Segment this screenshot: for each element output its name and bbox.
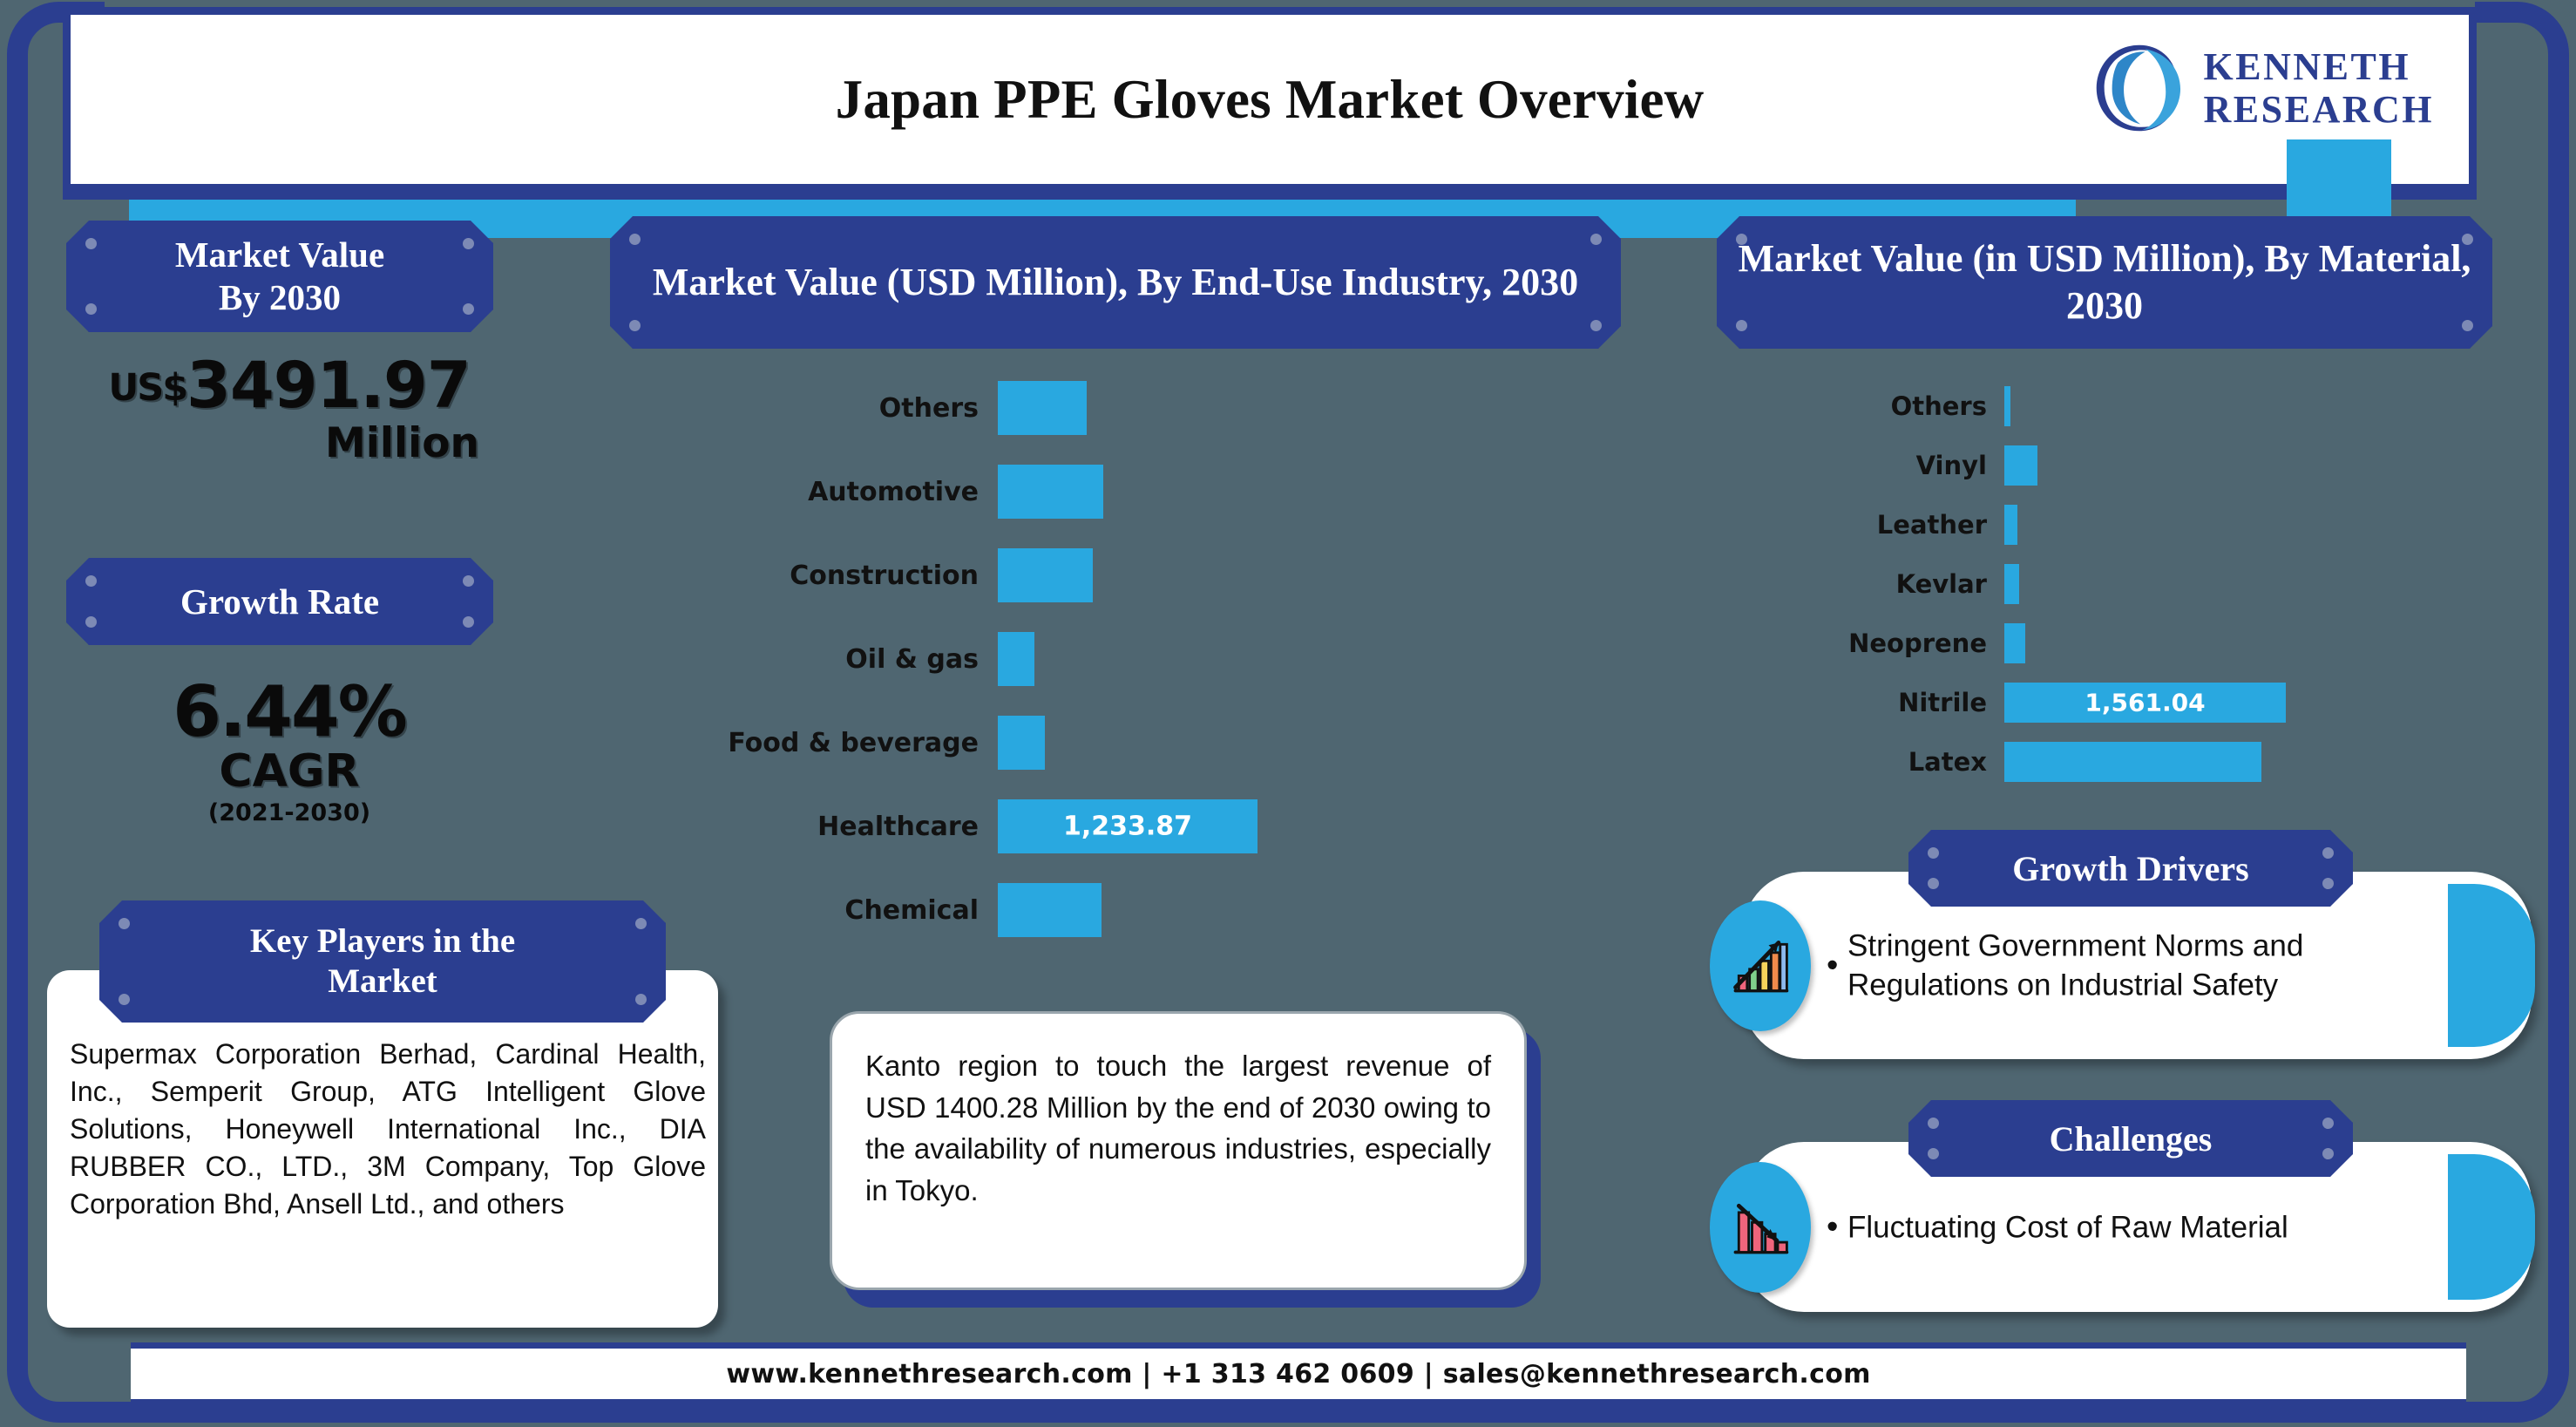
plate-growth-drivers-label: Growth Drivers [2012, 848, 2248, 889]
plate-growth-drivers: Growth Drivers [1908, 830, 2353, 907]
chart-category-label: Construction [662, 561, 998, 591]
chart-category-label: Vinyl [1708, 451, 2004, 480]
plate-screw-dot [119, 918, 130, 929]
chart-row: Nitrile1,561.04 [1708, 673, 2286, 732]
market-value-stat: US$3491.97 Million [45, 349, 533, 467]
chart-row: Construction [662, 533, 1257, 617]
growth-rate-metric: CAGR [45, 745, 533, 798]
growth-drivers-bullet: • [1827, 947, 1838, 984]
chart-bar [998, 381, 1087, 435]
chart-category-label: Automotive [662, 477, 998, 507]
logo-line-1: KENNETH [2204, 45, 2435, 88]
chart-category-label: Others [662, 393, 998, 424]
plate-screw-dot [463, 616, 474, 628]
chart-bar [2004, 742, 2261, 782]
pill-cap [2448, 884, 2535, 1047]
market-value-unit: Million [45, 419, 533, 467]
chart-category-label: Food & beverage [662, 728, 998, 758]
plate-screw-dot [463, 238, 474, 249]
plate-screw-dot [1736, 320, 1747, 331]
chart-material: OthersVinylLeatherKevlarNeopreneNitrile1… [1708, 377, 2286, 792]
chart-row: Others [662, 366, 1257, 450]
plate-market-value-label: Market Value By 2030 [175, 234, 384, 319]
chart-category-label: Healthcare [662, 812, 998, 842]
growth-drivers-text: Stringent Government Norms and Regulatio… [1847, 926, 2401, 1005]
plate-chart-enduse-title: Market Value (USD Million), By End-Use I… [610, 216, 1621, 349]
plate-screw-dot [1590, 234, 1602, 245]
plate-chart-material-title: Market Value (in USD Million), By Materi… [1717, 216, 2492, 349]
chart-row: Chemical [662, 868, 1257, 952]
plate-growth-rate: Growth Rate [66, 558, 493, 645]
challenges-bullet: • [1827, 1208, 1838, 1246]
plate-challenges: Challenges [1908, 1100, 2353, 1177]
logo-wordmark: KENNETH RESEARCH [2204, 45, 2435, 132]
chart-bar: 1,561.04 [2004, 683, 2286, 723]
brand-logo: KENNETH RESEARCH [2091, 39, 2435, 137]
plate-screw-dot [119, 994, 130, 1005]
chart-bar-value: 1,561.04 [2004, 689, 2286, 717]
plate-market-value: Market Value By 2030 [66, 221, 493, 332]
challenges-text: Fluctuating Cost of Raw Material [1847, 1207, 2401, 1247]
plate-screw-dot [635, 994, 647, 1005]
plate-screw-dot [1928, 1118, 1939, 1129]
chart-category-label: Chemical [662, 895, 998, 926]
chart-category-label: Kevlar [1708, 569, 2004, 599]
header-card: Japan PPE Gloves Market Overview KENNETH… [63, 7, 2477, 192]
chart-category-label: Nitrile [1708, 688, 2004, 717]
plate-challenges-label: Challenges [2050, 1118, 2213, 1159]
chart-row: Food & beverage [662, 701, 1257, 785]
chart-category-label: Leather [1708, 510, 2004, 540]
chart-bar [998, 548, 1093, 602]
chart-row: Healthcare1,233.87 [662, 785, 1257, 868]
plate-screw-dot [2322, 847, 2334, 859]
header-navy-strip [63, 186, 2477, 200]
chart-row: Others [1708, 377, 2286, 436]
chart-bar [998, 465, 1103, 519]
chart-bar [2004, 564, 2019, 604]
plate-screw-dot [629, 234, 641, 245]
chart-bar [2004, 505, 2017, 545]
growth-rate-period: (2021-2030) [45, 799, 533, 826]
chart-category-label: Neoprene [1708, 629, 2004, 658]
pill-cap [2448, 1154, 2535, 1300]
kenneth-research-swirl-logo-icon [2091, 39, 2188, 137]
chart-bar [998, 716, 1045, 770]
bar-chart-down-arrow-icon [1710, 1162, 1811, 1293]
plate-screw-dot [629, 320, 641, 331]
chart-bar [2004, 386, 2010, 426]
plate-key-players: Key Players in the Market [99, 900, 666, 1023]
plate-screw-dot [2322, 878, 2334, 889]
chart-row: Automotive [662, 450, 1257, 533]
chart-material-title: Market Value (in USD Million), By Materi… [1717, 235, 2492, 329]
footer-bar: www.kennethresearch.com | +1 313 462 060… [131, 1342, 2466, 1405]
plate-screw-dot [85, 616, 97, 628]
plate-screw-dot [1736, 234, 1747, 245]
chart-enduse-title: Market Value (USD Million), By End-Use I… [653, 259, 1578, 306]
chart-bar-value: 1,233.87 [998, 812, 1257, 842]
chart-bar [2004, 445, 2037, 486]
plate-screw-dot [2322, 1148, 2334, 1159]
chart-category-label: Latex [1708, 747, 2004, 777]
plate-screw-dot [463, 303, 474, 315]
chart-bar [2004, 623, 2025, 663]
chart-row: Leather [1708, 495, 2286, 554]
logo-line-2: RESEARCH [2204, 88, 2435, 131]
plate-screw-dot [1928, 847, 1939, 859]
footer-contact: www.kennethresearch.com | +1 313 462 060… [726, 1359, 1870, 1390]
plate-key-players-label: Key Players in the Market [250, 921, 515, 1002]
plate-screw-dot [2322, 1118, 2334, 1129]
kanto-note: Kanto region to touch the largest revenu… [830, 1011, 1527, 1290]
plate-growth-rate-label: Growth Rate [180, 581, 379, 622]
plate-screw-dot [85, 303, 97, 315]
chart-row: Neoprene [1708, 614, 2286, 673]
chart-bar [998, 883, 1102, 937]
plate-screw-dot [85, 575, 97, 587]
chart-category-label: Oil & gas [662, 644, 998, 675]
plate-screw-dot [2462, 234, 2473, 245]
currency-prefix: US$ [108, 366, 186, 410]
plate-screw-dot [463, 575, 474, 587]
chart-enduse: OthersAutomotiveConstructionOil & gasFoo… [662, 366, 1257, 952]
bar-chart-up-arrow-icon [1710, 900, 1811, 1031]
chart-row: Oil & gas [662, 617, 1257, 701]
growth-rate-stat: 6.44% CAGR (2021-2030) [45, 671, 533, 826]
chart-bar: 1,233.87 [998, 799, 1257, 853]
chart-bar [998, 632, 1034, 686]
market-value-number: 3491.97 [186, 349, 471, 423]
plate-screw-dot [1928, 1148, 1939, 1159]
key-players-list: Supermax Corporation Berhad, Cardinal He… [70, 1036, 706, 1222]
chart-row: Kevlar [1708, 554, 2286, 614]
chart-row: Latex [1708, 732, 2286, 792]
plate-screw-dot [1928, 878, 1939, 889]
growth-rate-value: 6.44% [45, 671, 533, 752]
market-value-amount: US$3491.97 [45, 349, 533, 423]
plate-screw-dot [2462, 320, 2473, 331]
plate-screw-dot [635, 918, 647, 929]
plate-screw-dot [1590, 320, 1602, 331]
chart-category-label: Others [1708, 391, 2004, 421]
chart-row: Vinyl [1708, 436, 2286, 495]
plate-screw-dot [85, 238, 97, 249]
